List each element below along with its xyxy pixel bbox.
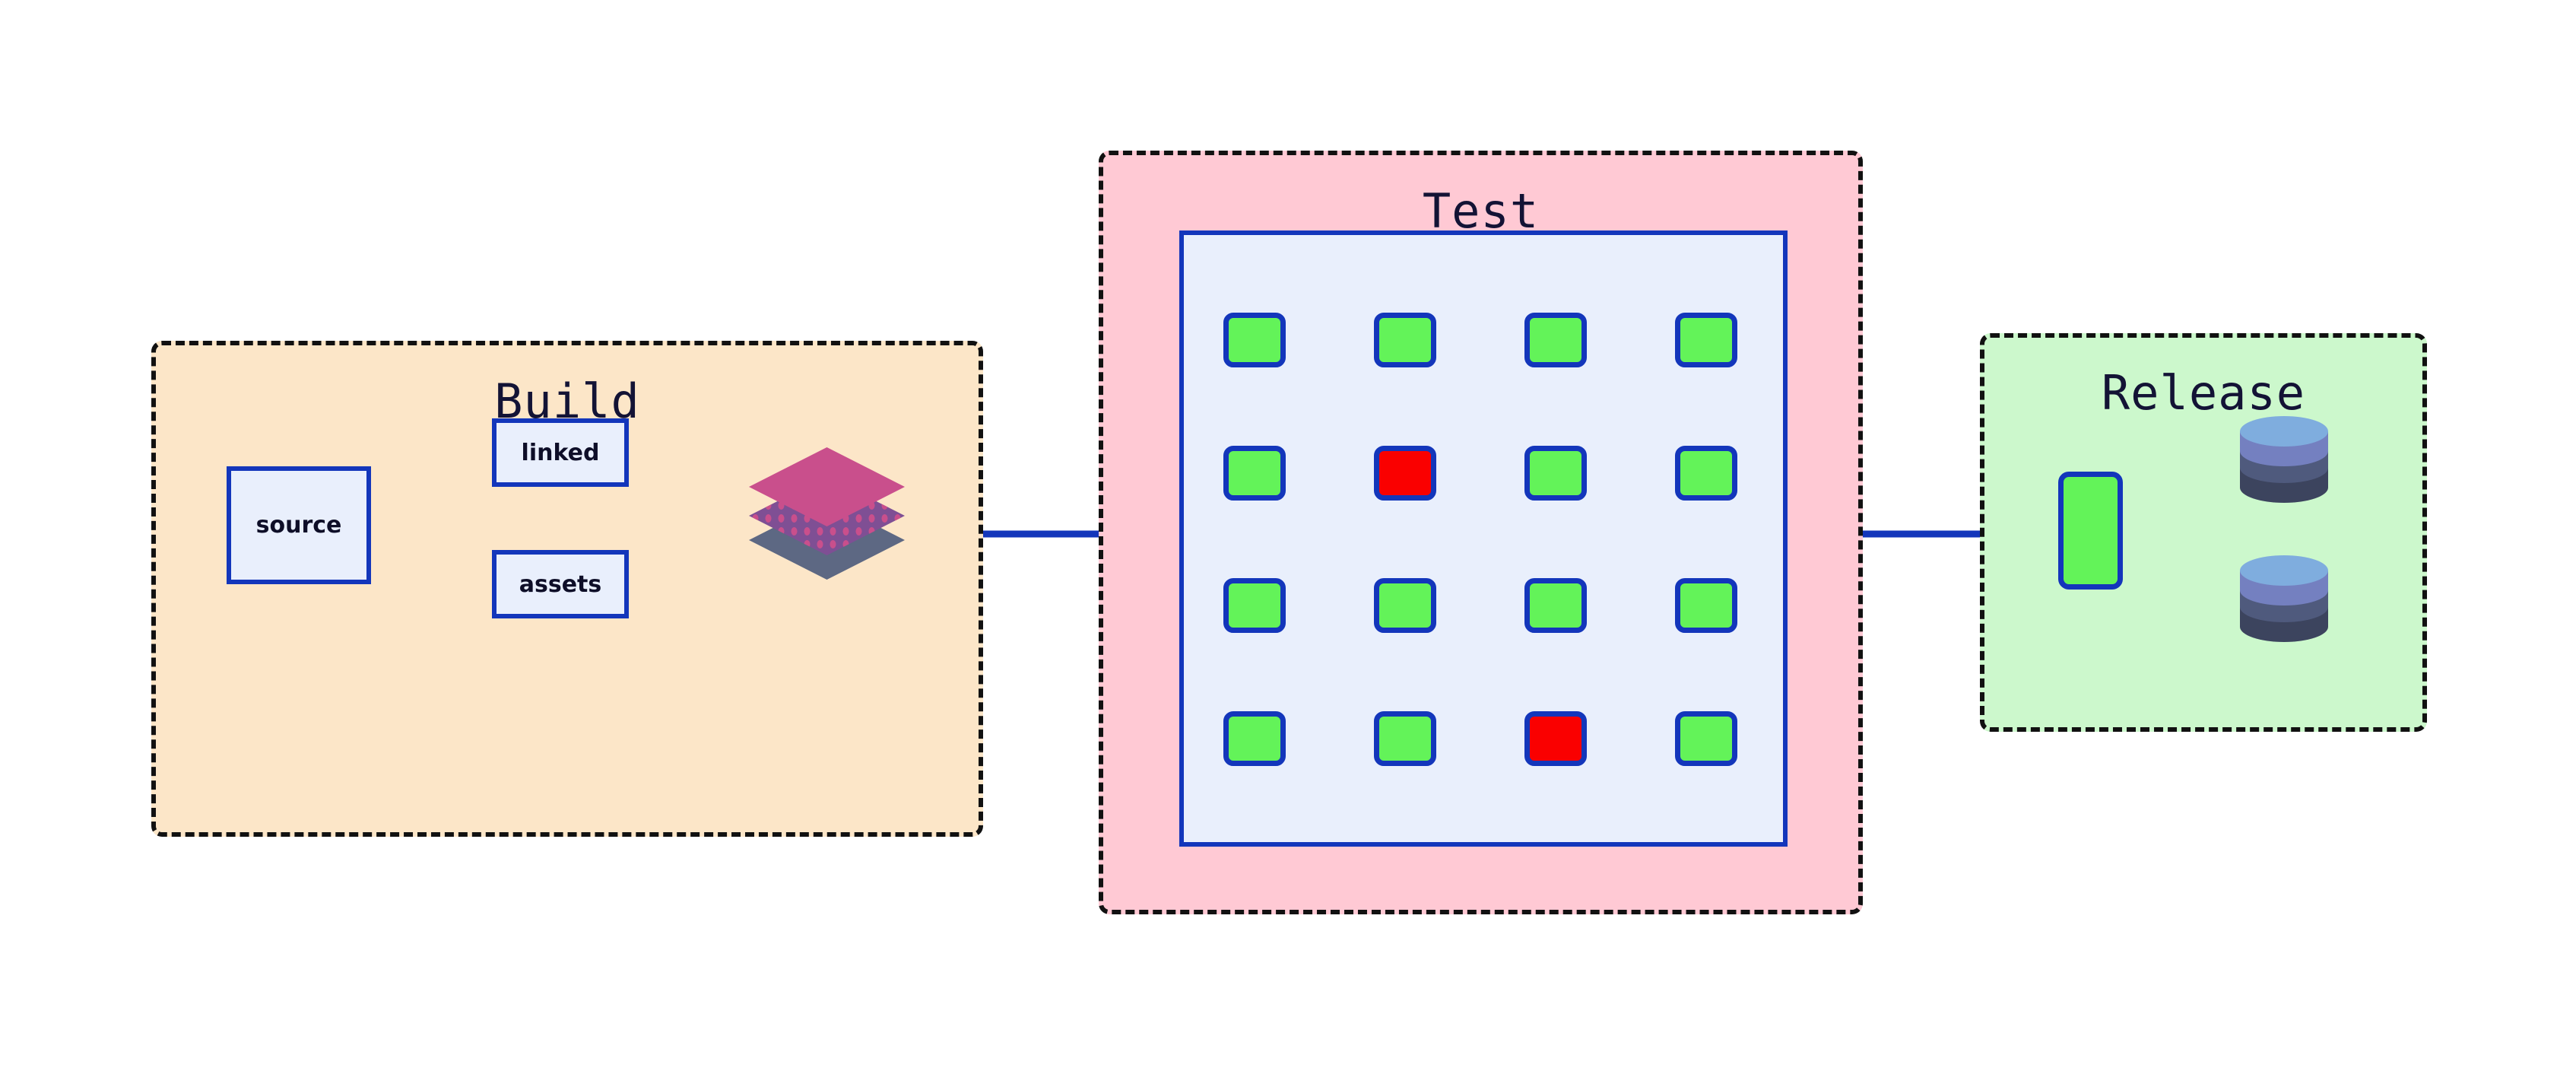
node-assets-label: assets [519, 571, 602, 598]
test-cell[interactable] [1223, 313, 1286, 367]
test-cell[interactable] [1675, 313, 1737, 367]
phase-release[interactable]: Release [1980, 333, 2427, 732]
test-cell[interactable] [1374, 313, 1436, 367]
test-cell[interactable] [1524, 578, 1587, 633]
stacked-layers-icon [749, 447, 905, 592]
node-source-label: source [256, 512, 342, 539]
test-cell[interactable] [1675, 446, 1737, 501]
database-icon[interactable] [2235, 415, 2333, 504]
node-assets[interactable]: assets [492, 550, 629, 618]
test-cell[interactable] [1374, 578, 1436, 633]
release-artifact-node[interactable] [2058, 472, 2123, 590]
test-cell[interactable] [1524, 446, 1587, 501]
diagram-canvas: Build source linked assets Test [0, 0, 2576, 1068]
test-results-grid [1223, 313, 1756, 778]
test-cell[interactable] [1524, 711, 1587, 766]
node-linked-label: linked [522, 440, 600, 466]
phase-release-title: Release [1984, 370, 2422, 417]
test-cell[interactable] [1223, 578, 1286, 633]
test-cell[interactable] [1524, 313, 1587, 367]
database-icon[interactable] [2235, 554, 2333, 644]
phase-test-title: Test [1103, 188, 1858, 235]
test-cell[interactable] [1223, 711, 1286, 766]
test-cell[interactable] [1374, 711, 1436, 766]
test-cell[interactable] [1675, 711, 1737, 766]
test-cell[interactable] [1223, 446, 1286, 501]
node-source[interactable]: source [227, 466, 371, 584]
test-cell[interactable] [1675, 578, 1737, 633]
test-cell[interactable] [1374, 446, 1436, 501]
test-results-panel [1179, 230, 1788, 847]
node-linked[interactable]: linked [492, 418, 629, 487]
